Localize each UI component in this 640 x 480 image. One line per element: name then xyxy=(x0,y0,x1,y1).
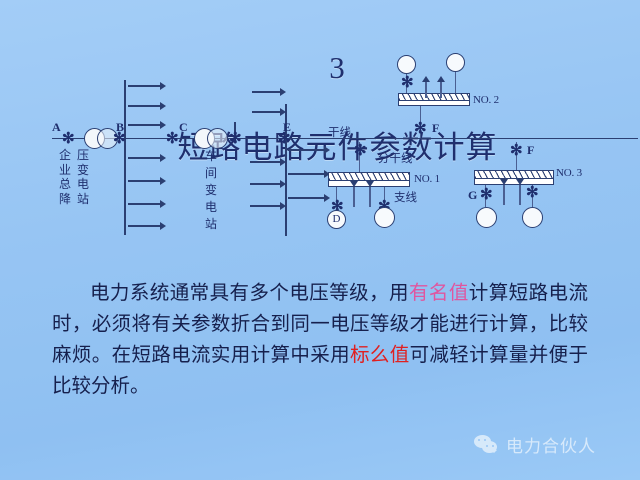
panel-no3-id: NO. 3 xyxy=(556,167,582,179)
station-right-label: 车 间 变 电 站 xyxy=(204,148,218,233)
fault-marker-b: ✻ xyxy=(113,134,126,144)
feeder-arrow xyxy=(250,158,286,166)
feeder-arrow xyxy=(128,82,166,90)
branch-line xyxy=(455,72,456,93)
feeder-arrow xyxy=(128,177,166,185)
load-circle xyxy=(374,207,395,228)
feeder-arrow xyxy=(128,121,166,129)
station-left-label-col1: 企 业 总 降 xyxy=(58,148,72,206)
vertical-bus-1 xyxy=(124,80,126,235)
feeder-arrow xyxy=(128,200,166,208)
fault-marker-f2: ✻ xyxy=(510,146,523,156)
fault-marker-f1: ✻ xyxy=(414,124,427,134)
watermark-text: 电力合伙人 xyxy=(506,432,596,457)
panel-no2 xyxy=(398,93,470,106)
feeder-arrow xyxy=(128,102,166,110)
single-line-diagram: A ✻ B ✻ 企 业 总 降 压 变 电 站 C ✻ ✻ 车 间 xyxy=(0,50,640,265)
load-circle xyxy=(476,207,497,228)
fault-marker-transformer-2: ✻ xyxy=(229,134,242,144)
feeder-arrow xyxy=(252,108,286,116)
panel-no2-id: NO. 2 xyxy=(473,94,499,106)
fault-marker-e: ✻ xyxy=(278,134,291,144)
node-label-f2: F xyxy=(527,143,534,158)
feeder-arrow xyxy=(252,88,286,96)
fault-marker-no1-riser: ✻ xyxy=(354,146,367,156)
load-circle xyxy=(397,55,416,74)
node-label-a: A xyxy=(52,120,61,135)
feeder-arrow xyxy=(288,170,330,178)
fault-marker: ✻ xyxy=(526,188,539,198)
panel-no2-hatch xyxy=(399,94,469,101)
label-sub-trunk: 分干线 xyxy=(378,150,413,166)
fault-marker-g: ✻ xyxy=(480,190,493,200)
feeder-arrow xyxy=(288,146,330,154)
feeder-arrow xyxy=(288,194,330,202)
paragraph-segment-1: 电力系统通常具有多个电压等级，用 xyxy=(90,283,409,304)
panel-no3-hatch xyxy=(475,171,553,179)
feeder-arrow xyxy=(250,202,286,210)
watermark: 电力合伙人 xyxy=(474,432,596,457)
feeder-arrow xyxy=(250,180,286,188)
paragraph-highlight-per-unit-value: 标么值 xyxy=(350,345,410,366)
fault-marker-a: ✻ xyxy=(62,134,75,144)
paragraph-highlight-named-value: 有名值 xyxy=(409,283,469,304)
wechat-icon xyxy=(474,435,500,455)
node-label-g: G xyxy=(468,188,477,203)
label-branch: 支线 xyxy=(394,189,417,205)
wechat-icon-tail-front xyxy=(491,450,497,456)
fault-marker-c: ✻ xyxy=(166,134,179,144)
load-circle xyxy=(446,53,465,72)
node-label-c: C xyxy=(179,120,188,135)
load-circle xyxy=(522,207,543,228)
station-left-label-col2: 压 变 电 站 xyxy=(76,148,90,206)
body-paragraph: 电力系统通常具有多个电压等级，用有名值计算短路电流时，必须将有关参数折合到同一电… xyxy=(52,278,588,402)
feeder-arrow xyxy=(128,222,166,230)
label-trunk: 干线 xyxy=(328,124,351,140)
node-label-f1: F xyxy=(432,121,439,136)
panel-no1-id: NO. 1 xyxy=(414,173,440,185)
feeder-arrow xyxy=(128,154,166,162)
panel-no3 xyxy=(474,170,554,185)
transformer-2-winding-secondary xyxy=(207,128,228,149)
transformer-2 xyxy=(194,128,228,149)
fault-marker: ✻ xyxy=(401,78,414,88)
panel-no1-hatch xyxy=(329,173,409,181)
slide-canvas: 3 短路电路元件参数计算 A ✻ B ✻ 企 业 总 降 压 变 电 站 xyxy=(0,0,640,480)
load-circle-d: D xyxy=(327,210,346,229)
